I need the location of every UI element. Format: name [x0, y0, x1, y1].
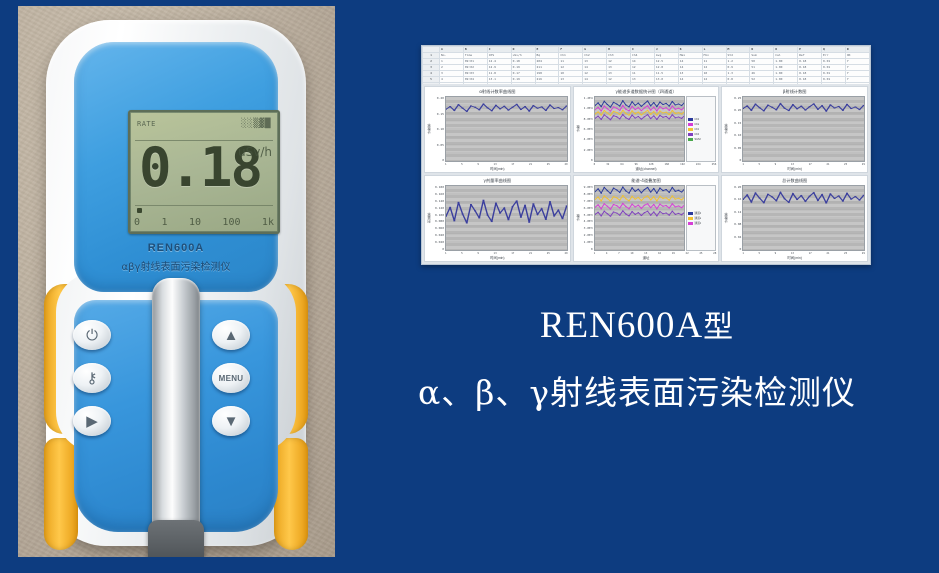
- y-tick-label: 0: [581, 158, 593, 162]
- y-tick-label: 9.0E3: [581, 185, 593, 189]
- y-tick-label: 6.0E3: [581, 206, 593, 210]
- chart-y-axis-label: 计数率: [426, 96, 432, 162]
- y-tick-label: 0.25: [729, 96, 741, 100]
- device-handle-end-cap: [148, 520, 204, 557]
- power-icon: ⏻: [86, 328, 98, 343]
- y-tick-label: 0.120: [432, 206, 444, 210]
- legend-label: 通道2: [694, 216, 701, 220]
- measurement-software-screenshot: ABCDEFGHIJKLMNOPQR1No.TimeCPSuSv/hBqCh1C…: [421, 45, 871, 265]
- chart-alpha-count-rate: α射线计数率曲线图计数率0.200.150.100.05015913172125…: [424, 86, 571, 173]
- menu-button[interactable]: MENU: [212, 363, 250, 393]
- y-tick-label: 0: [432, 158, 444, 162]
- lcd-reading-area: 0.18 uSv/h: [131, 139, 277, 205]
- legend-label: Ch2: [694, 122, 699, 126]
- up-button[interactable]: ▲: [212, 320, 250, 350]
- search-key-button[interactable]: ⚷: [73, 363, 111, 393]
- lcd-screen: RATE ░░▒▓█ 0.18 uSv/h 0 1: [131, 113, 277, 231]
- lcd-bezel: RATE ░░▒▓█ 0.18 uSv/h 0 1: [128, 110, 280, 234]
- chart-multichannel-spectrum: γ能谱多道数据统计图（四通道）计数1.2E41.0E48.0E36.0E34.0…: [573, 86, 720, 173]
- spreadsheet-area: ABCDEFGHIJKLMNOPQR1No.TimeCPSuSv/hBqCh1C…: [422, 46, 870, 85]
- chart-y-ticks: 0.200.160.120.080.040: [729, 185, 742, 251]
- y-tick-label: 0.160: [432, 192, 444, 196]
- y-tick-label: 2.0E3: [581, 148, 593, 152]
- y-tick-label: 0: [729, 247, 741, 251]
- y-tick-label: 0.100: [432, 213, 444, 217]
- y-tick-label: 4.0E3: [581, 219, 593, 223]
- device-front-upper-panel: RATE ░░▒▓█ 0.18 uSv/h 0 1: [74, 42, 278, 292]
- legend-item: Ch4: [688, 132, 714, 136]
- legend-item: Ch2: [688, 122, 714, 126]
- chart-gamma-dose-rate: γ剂量率曲线图剂量率0.1800.1600.1400.1200.1000.080…: [424, 175, 571, 262]
- legend-item: SUM: [688, 137, 714, 141]
- chart-x-axis-label: 时间(min): [722, 166, 867, 172]
- menu-button-label: MENU: [219, 374, 244, 383]
- y-tick-label: 0: [432, 247, 444, 251]
- chart-x-axis-label: 道址: [574, 255, 719, 261]
- legend-label: Ch4: [694, 132, 699, 136]
- lcd-scale-tick-3: 100: [222, 217, 240, 228]
- legend-label: SUM: [694, 137, 700, 141]
- chart-x-axis-label: 时间(min): [722, 255, 867, 261]
- chart-x-axis-label: 时间(min): [425, 166, 570, 172]
- y-tick-label: 0: [581, 247, 593, 251]
- chart-legend: 通道1通道2通道3: [686, 185, 716, 251]
- legend-item: 通道1: [688, 211, 714, 215]
- lcd-unit: uSv/h: [238, 145, 272, 159]
- chart-plot-area: [594, 96, 686, 162]
- y-tick-label: 0.12: [729, 210, 741, 214]
- chart-plot-area: [742, 96, 865, 162]
- y-tick-label: 0.20: [432, 96, 444, 100]
- legend-item: 通道2: [688, 216, 714, 220]
- legend-item: Ch3: [688, 127, 714, 131]
- y-tick-label: 0.080: [432, 219, 444, 223]
- y-tick-label: 2.0E3: [581, 233, 593, 237]
- chart-title: β射线计数图: [722, 87, 867, 96]
- down-button[interactable]: ▼: [212, 406, 250, 436]
- device-model-label: REN600A: [74, 242, 278, 254]
- y-tick-label: 0.16: [729, 197, 741, 201]
- chart-y-axis-label: 计数率: [723, 96, 729, 162]
- chart-plot-area: [445, 96, 568, 162]
- legend-label: Ch3: [694, 127, 699, 131]
- legend-label: Ch1: [694, 117, 699, 121]
- y-tick-label: 0.05: [432, 143, 444, 147]
- chart-y-ticks: 0.1800.1600.1400.1200.1000.0800.0600.040…: [432, 185, 445, 251]
- handheld-detector-device: RATE ░░▒▓█ 0.18 uSv/h 0 1: [46, 20, 306, 546]
- y-tick-label: 0.04: [729, 235, 741, 239]
- y-tick-label: 0.180: [432, 185, 444, 189]
- y-tick-label: 8.0E3: [581, 117, 593, 121]
- lcd-scale-tick-1: 1: [161, 217, 167, 228]
- y-tick-label: 0.020: [432, 240, 444, 244]
- y-tick-label: 0.20: [729, 108, 741, 112]
- chart-plot-area: [594, 185, 686, 251]
- device-handle-strap: [152, 278, 200, 548]
- y-tick-label: 1.0E3: [581, 240, 593, 244]
- data-table: ABCDEFGHIJKLMNOPQR1No.TimeCPSuSv/hBqCh1C…: [422, 46, 870, 85]
- chart-y-ticks: 0.200.150.100.050: [432, 96, 445, 162]
- y-tick-label: 0.20: [729, 185, 741, 189]
- chart-title: γ能谱多道数据统计图（四通道）: [574, 87, 719, 96]
- legend-label: 通道1: [694, 211, 701, 215]
- headline-line-2: α、β、γ射线表面污染检测仪: [335, 366, 939, 420]
- chart-y-ticks: 1.2E41.0E48.0E36.0E34.0E32.0E30: [581, 96, 594, 162]
- headline-line-1: REN600A型: [335, 300, 939, 354]
- y-tick-label: 0.060: [432, 226, 444, 230]
- legend-swatch: [688, 118, 693, 121]
- y-tick-label: 4.0E3: [581, 137, 593, 141]
- y-tick-label: 0.040: [432, 233, 444, 237]
- y-tick-label: 0.08: [729, 222, 741, 226]
- legend-swatch: [688, 128, 693, 131]
- grip-left-upper: [44, 284, 78, 434]
- y-tick-label: 3.0E3: [581, 226, 593, 230]
- y-tick-label: 7.0E3: [581, 199, 593, 203]
- y-tick-label: 0.140: [432, 199, 444, 203]
- y-tick-label: 5.0E3: [581, 213, 593, 217]
- y-tick-label: 0.15: [729, 121, 741, 125]
- play-button[interactable]: ▶: [73, 406, 111, 436]
- chart-total-count-rate: 总计数曲线图计数率0.200.160.120.080.0401591317212…: [721, 175, 868, 262]
- lcd-battery-indicator: ░░▒▓█: [241, 119, 271, 129]
- legend-swatch: [688, 217, 693, 220]
- arrow-down-icon: ▼: [224, 414, 239, 429]
- chart-y-axis-label: 计数: [575, 96, 581, 162]
- key-icon: ⚷: [87, 371, 98, 386]
- chart-title: 总计数曲线图: [722, 176, 867, 185]
- chart-title: α射线计数率曲线图: [425, 87, 570, 96]
- chart-y-axis-label: 计数率: [723, 185, 729, 251]
- chart-title: γ剂量率曲线图: [425, 176, 570, 185]
- y-tick-label: 0.05: [729, 146, 741, 150]
- arrow-up-icon: ▲: [224, 328, 239, 343]
- legend-item: 通道3: [688, 221, 714, 225]
- y-tick-label: 8.0E3: [581, 192, 593, 196]
- chart-y-ticks: 9.0E38.0E37.0E36.0E35.0E34.0E33.0E32.0E3…: [581, 185, 594, 251]
- grip-right-upper: [274, 284, 308, 434]
- grip-left-lower: [44, 438, 78, 550]
- chart-beta-count-rate: β射线计数图计数率0.250.200.150.100.0501591317212…: [721, 86, 868, 173]
- charts-grid: α射线计数率曲线图计数率0.200.150.100.05015913172125…: [422, 84, 870, 264]
- lcd-scale: 0 1 10 100 1k: [134, 213, 274, 231]
- y-tick-label: 0.10: [432, 127, 444, 131]
- chart-legend: Ch1Ch2Ch3Ch4SUM: [686, 96, 716, 162]
- legend-swatch: [688, 133, 693, 136]
- chart-y-axis-label: 计数: [575, 185, 581, 251]
- chart-energy-band-stack: 能谱-4道叠加图计数9.0E38.0E37.0E36.0E35.0E34.0E3…: [573, 175, 720, 262]
- lcd-mode-label: RATE: [137, 120, 156, 128]
- chart-y-ticks: 0.250.200.150.100.050: [729, 96, 742, 162]
- y-tick-label: 0.10: [729, 133, 741, 137]
- y-tick-label: 0.15: [432, 112, 444, 116]
- legend-swatch: [688, 222, 693, 225]
- chart-plot-area: [742, 185, 865, 251]
- y-tick-label: 1.2E4: [581, 96, 593, 100]
- legend-swatch: [688, 138, 693, 141]
- chart-y-axis-label: 剂量率: [426, 185, 432, 251]
- headline-model-suffix: 型: [703, 310, 734, 345]
- chart-plot-area: [445, 185, 568, 251]
- play-icon: ▶: [86, 414, 98, 429]
- legend-label: 通道3: [694, 221, 701, 225]
- y-tick-label: 0: [729, 158, 741, 162]
- headline-block: REN600A型 α、β、γ射线表面污染检测仪: [335, 300, 939, 490]
- headline-model: REN600A: [540, 305, 703, 346]
- chart-x-axis-label: 时间(min): [425, 255, 570, 261]
- device-chinese-label: αβγ射线表面污染检测仪: [74, 258, 278, 273]
- legend-swatch: [688, 123, 693, 126]
- grip-right-lower: [274, 438, 308, 550]
- power-button[interactable]: ⏻: [73, 320, 111, 350]
- product-photo: RATE ░░▒▓█ 0.18 uSv/h 0 1: [18, 6, 335, 557]
- lcd-scale-tick-2: 10: [189, 217, 201, 228]
- legend-item: Ch1: [688, 117, 714, 121]
- y-tick-label: 6.0E3: [581, 127, 593, 131]
- chart-title: 能谱-4道叠加图: [574, 176, 719, 185]
- y-tick-label: 1.0E4: [581, 106, 593, 110]
- lcd-scale-tick-4: 1k: [262, 217, 274, 228]
- legend-swatch: [688, 212, 693, 215]
- lcd-scale-tick-0: 0: [134, 217, 140, 228]
- slide-background: RATE ░░▒▓█ 0.18 uSv/h 0 1: [0, 0, 939, 573]
- chart-x-axis-label: 道址(channel): [574, 166, 719, 172]
